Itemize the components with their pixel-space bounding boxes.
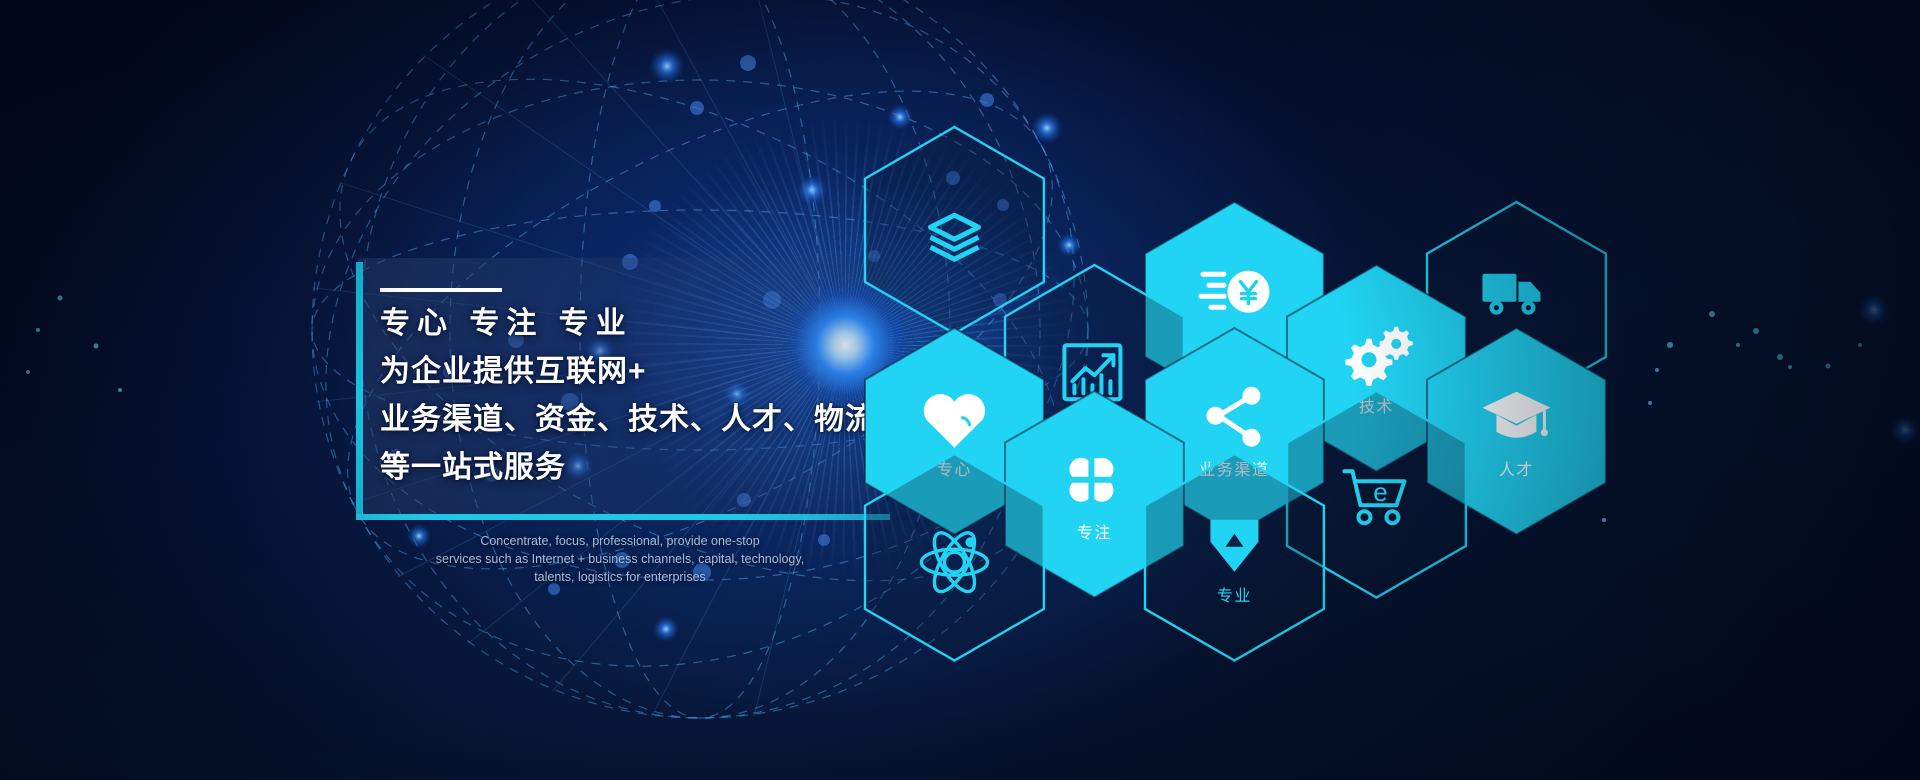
banner-stage: 专心 专注 专业 为企业提供互联网+ 业务渠道、资金、技术、人才、物流 等一站式…: [0, 0, 1920, 780]
vignette-overlay: [0, 0, 1920, 780]
